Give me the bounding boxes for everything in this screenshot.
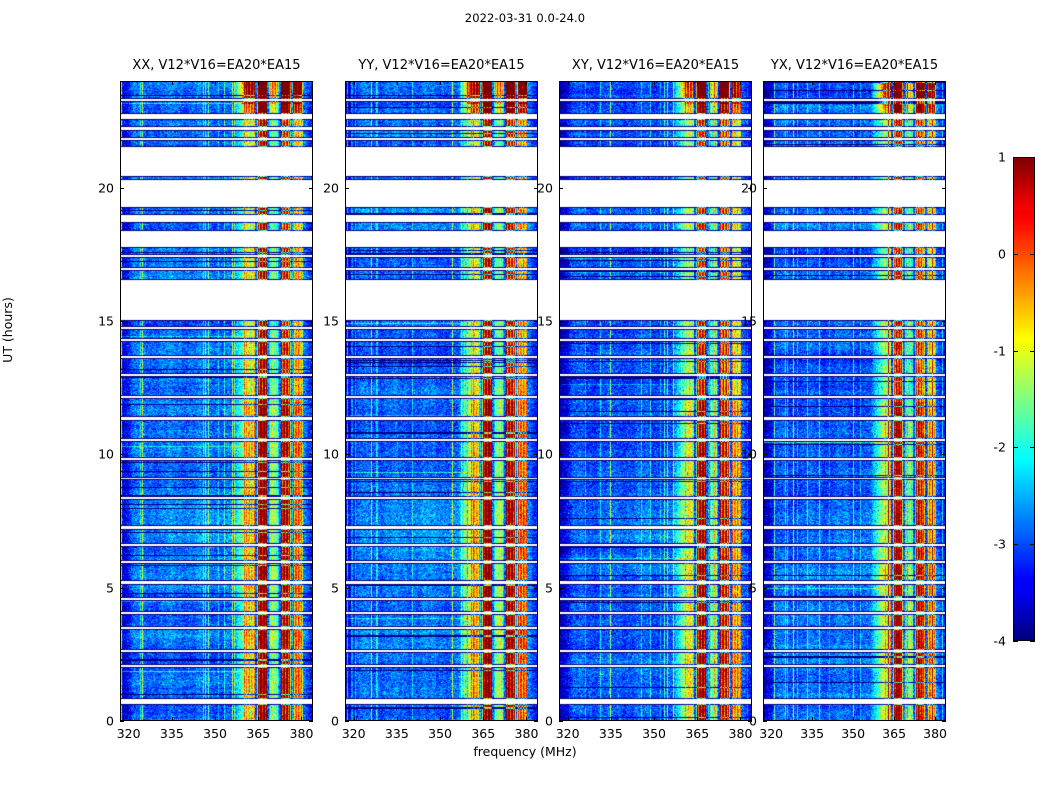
y-tick: [559, 721, 563, 722]
colorbar-tick-label: -3: [994, 537, 1006, 552]
colorbar[interactable]: -4-3-2-101: [1013, 157, 1035, 641]
x-tick: [483, 717, 484, 721]
colorbar-tick: [1013, 641, 1018, 642]
x-tick-top: [611, 81, 612, 85]
x-tick: [894, 717, 895, 721]
colorbar-tick-right: [1030, 157, 1035, 158]
panel-yy-axes: [345, 81, 538, 721]
panel-yx-axes: [763, 81, 946, 721]
y-tick-label: 20: [86, 180, 114, 195]
x-tick: [611, 717, 612, 721]
y-tick-label: 15: [729, 314, 757, 329]
colorbar-tick: [1013, 157, 1018, 158]
y-tick: [763, 588, 767, 589]
x-tick-label: 320: [556, 726, 580, 741]
x-tick-top: [853, 81, 854, 85]
x-tick-top: [215, 81, 216, 85]
x-tick: [853, 717, 854, 721]
y-tick-label: 20: [729, 180, 757, 195]
y-tick-label: 5: [86, 580, 114, 595]
panel-yx-spectrogram: [764, 82, 945, 720]
x-tick: [354, 717, 355, 721]
y-tick-label: 0: [525, 714, 553, 729]
y-tick-label: 0: [86, 714, 114, 729]
y-tick-right: [942, 188, 946, 189]
y-tick: [559, 454, 563, 455]
colorbar-tick-right: [1030, 544, 1035, 545]
x-tick-top: [812, 81, 813, 85]
x-tick: [301, 717, 302, 721]
y-tick-right: [942, 721, 946, 722]
y-tick: [763, 454, 767, 455]
y-tick-label: 10: [311, 447, 339, 462]
x-tick-top: [654, 81, 655, 85]
colorbar-tick-label: 0: [998, 246, 1006, 261]
x-tick-label: 365: [246, 726, 270, 741]
y-tick: [120, 321, 124, 322]
x-tick-label: 335: [800, 726, 824, 741]
x-tick: [568, 717, 569, 721]
x-tick-label: 320: [117, 726, 141, 741]
x-tick-label: 335: [599, 726, 623, 741]
y-tick-label: 20: [525, 180, 553, 195]
y-tick: [345, 588, 349, 589]
colorbar-tick: [1013, 351, 1018, 352]
panel-xy-title: XY, V12*V16=EA20*EA15: [572, 58, 739, 73]
y-tick: [559, 188, 563, 189]
y-tick-label: 5: [729, 580, 757, 595]
y-tick-label: 5: [311, 580, 339, 595]
x-tick-label: 320: [759, 726, 783, 741]
colorbar-tick-right: [1030, 447, 1035, 448]
y-tick-label: 5: [525, 580, 553, 595]
x-tick: [440, 717, 441, 721]
colorbar-tick-right: [1030, 254, 1035, 255]
x-tick: [935, 717, 936, 721]
panel-yx-title: YX, V12*V16=EA20*EA15: [771, 58, 938, 73]
y-tick-label: 15: [86, 314, 114, 329]
panel-yy-title: YY, V12*V16=EA20*EA15: [358, 58, 524, 73]
panel-xx-axes: [120, 81, 313, 721]
x-tick-top: [894, 81, 895, 85]
x-tick-label: 350: [203, 726, 227, 741]
y-tick: [345, 188, 349, 189]
x-tick: [258, 717, 259, 721]
figure-canvas: 2022-03-31 0.0-24.0 XX, V12*V16=EA20*EA1…: [0, 0, 1050, 800]
colorbar-tick-label: -4: [994, 634, 1006, 649]
colorbar-gradient: [1013, 157, 1035, 641]
colorbar-tick-label: 1: [998, 150, 1006, 165]
y-tick: [763, 721, 767, 722]
x-tick-top: [129, 81, 130, 85]
colorbar-tick: [1013, 254, 1018, 255]
y-tick: [120, 454, 124, 455]
x-tick: [654, 717, 655, 721]
y-tick: [345, 454, 349, 455]
panel-xy-spectrogram: [560, 82, 751, 720]
x-tick-label: 350: [642, 726, 666, 741]
y-tick-label: 0: [311, 714, 339, 729]
x-tick-label: 365: [471, 726, 495, 741]
x-tick-top: [771, 81, 772, 85]
panel-yy[interactable]: YY, V12*V16=EA20*EA153203353503653800510…: [345, 81, 538, 721]
x-tick-top: [354, 81, 355, 85]
x-tick: [771, 717, 772, 721]
x-tick-label: 380: [290, 726, 314, 741]
y-tick-right: [942, 454, 946, 455]
x-tick-top: [483, 81, 484, 85]
y-tick: [345, 321, 349, 322]
y-tick-label: 10: [525, 447, 553, 462]
y-tick: [559, 588, 563, 589]
panel-xx[interactable]: XX, V12*V16=EA20*EA153203353503653800510…: [120, 81, 313, 721]
y-tick: [345, 721, 349, 722]
figure-suptitle: 2022-03-31 0.0-24.0: [0, 11, 1050, 25]
panel-yy-spectrogram: [346, 82, 537, 720]
colorbar-tick: [1013, 544, 1018, 545]
x-tick-top: [172, 81, 173, 85]
colorbar-canvas: [1014, 158, 1034, 640]
x-axis-caption: frequency (MHz): [0, 744, 1050, 759]
y-tick-label: 15: [311, 314, 339, 329]
x-tick-label: 335: [160, 726, 184, 741]
x-tick: [397, 717, 398, 721]
y-tick-label: 15: [525, 314, 553, 329]
colorbar-tick: [1013, 447, 1018, 448]
colorbar-tick-label: -1: [994, 343, 1006, 358]
y-tick: [763, 188, 767, 189]
x-tick: [129, 717, 130, 721]
panel-xy[interactable]: XY, V12*V16=EA20*EA153203353503653800510…: [559, 81, 752, 721]
colorbar-tick-right: [1030, 641, 1035, 642]
x-tick-top: [440, 81, 441, 85]
panel-xy-axes: [559, 81, 752, 721]
x-tick: [812, 717, 813, 721]
y-tick: [120, 188, 124, 189]
x-tick: [697, 717, 698, 721]
x-tick-top: [301, 81, 302, 85]
x-tick-label: 320: [342, 726, 366, 741]
x-tick-top: [397, 81, 398, 85]
y-tick-label: 10: [86, 447, 114, 462]
y-tick: [120, 588, 124, 589]
x-tick-label: 365: [685, 726, 709, 741]
x-tick-top: [258, 81, 259, 85]
x-tick-label: 380: [923, 726, 947, 741]
x-tick: [172, 717, 173, 721]
y-tick-label: 10: [729, 447, 757, 462]
x-tick-top: [526, 81, 527, 85]
y-tick-label: 20: [311, 180, 339, 195]
x-tick: [215, 717, 216, 721]
x-tick-top: [697, 81, 698, 85]
y-tick-right: [942, 321, 946, 322]
y-tick: [120, 721, 124, 722]
y-axis-caption: UT (hours): [0, 230, 15, 430]
y-tick: [559, 321, 563, 322]
x-tick-label: 350: [841, 726, 865, 741]
y-tick-right: [942, 588, 946, 589]
x-tick-top: [935, 81, 936, 85]
x-tick-label: 335: [385, 726, 409, 741]
panel-xx-title: XX, V12*V16=EA20*EA15: [132, 58, 300, 73]
x-tick-label: 350: [428, 726, 452, 741]
panel-yx[interactable]: YX, V12*V16=EA20*EA153203353503653800510…: [763, 81, 946, 721]
colorbar-tick-label: -2: [994, 440, 1006, 455]
x-tick-top: [568, 81, 569, 85]
colorbar-tick-right: [1030, 351, 1035, 352]
panel-xx-spectrogram: [121, 82, 312, 720]
y-tick: [763, 321, 767, 322]
x-tick-top: [740, 81, 741, 85]
y-tick-label: 0: [729, 714, 757, 729]
x-tick-label: 365: [882, 726, 906, 741]
